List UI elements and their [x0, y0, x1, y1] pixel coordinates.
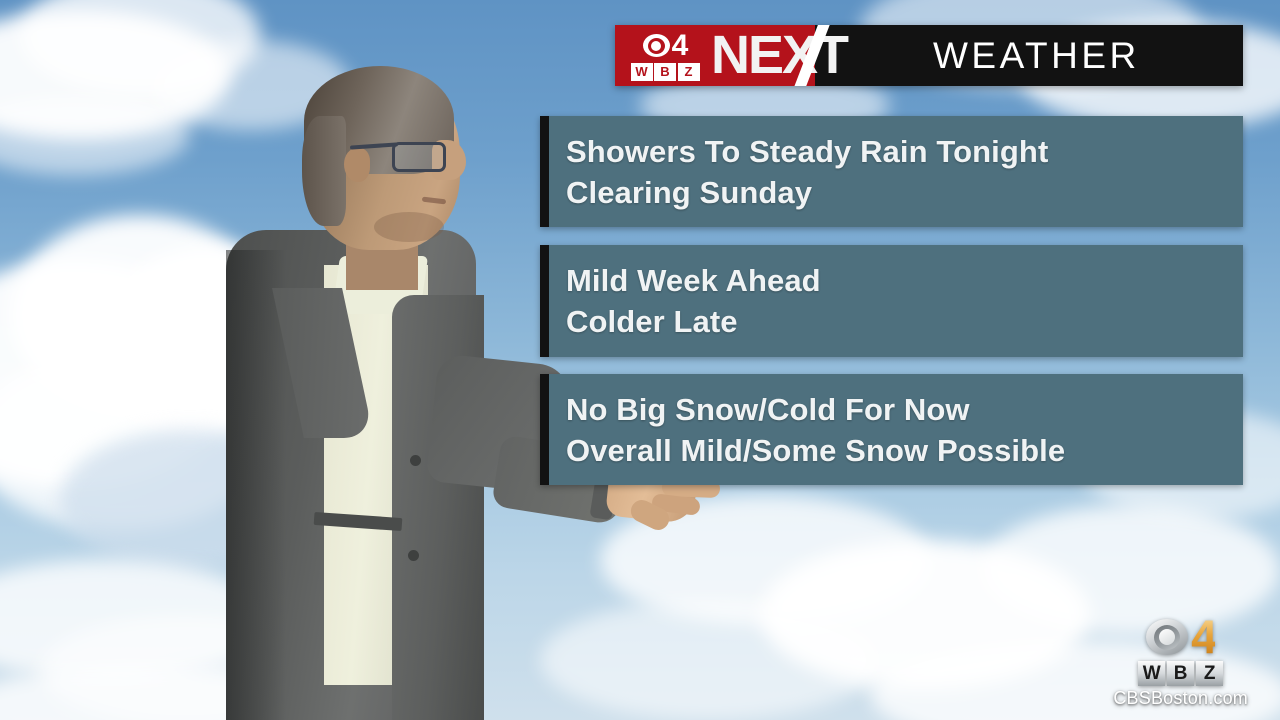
forecast-panel: No Big Snow/Cold For Now Overall Mild/So…: [540, 374, 1243, 485]
call-letter-z: Z: [1196, 661, 1223, 686]
call-letter-b: B: [1167, 661, 1194, 686]
website-url: CBSBoston.com: [1113, 689, 1248, 708]
forecast-line: Mild Week Ahead: [566, 260, 821, 301]
wbz-call-letters: W B Z: [631, 63, 700, 81]
station-bug: 4 W B Z CBSBoston.com: [1113, 616, 1248, 708]
jacket-shadow: [226, 250, 286, 720]
forecast-panel: Showers To Steady Rain Tonight Clearing …: [540, 116, 1243, 227]
wbz-call-letters: W B Z: [1138, 661, 1223, 686]
jacket-button: [408, 550, 419, 561]
forecast-panel-text: Mild Week Ahead Colder Late: [540, 260, 821, 342]
brand-weather-text: WEATHER: [933, 37, 1140, 74]
channel-number: 4: [672, 32, 688, 60]
call-letter-w: W: [631, 63, 653, 81]
cbs-eye-icon: [643, 34, 670, 57]
forecast-line: Overall Mild/Some Snow Possible: [566, 430, 1065, 471]
meteorologist: [196, 60, 556, 720]
cbs-eye-icon: [1146, 619, 1188, 655]
station-bug-top: 4: [1146, 616, 1215, 658]
forecast-line: Showers To Steady Rain Tonight: [566, 131, 1048, 172]
jacket-button: [410, 455, 421, 466]
call-letter-w: W: [1138, 661, 1165, 686]
next-weather-banner: 4 W B Z NEXT WEATHER: [615, 25, 1243, 86]
wbz-station-logo: 4 W B Z: [629, 31, 701, 81]
hair-side: [302, 116, 346, 226]
ear: [344, 148, 370, 182]
call-letter-b: B: [654, 63, 676, 81]
brand-next-text: NEXT: [711, 26, 847, 85]
forecast-line: No Big Snow/Cold For Now: [566, 389, 1065, 430]
call-letter-z: Z: [678, 63, 700, 81]
forecast-panel: Mild Week Ahead Colder Late: [540, 245, 1243, 357]
eyeglasses-lens: [392, 142, 446, 172]
forecast-line: Clearing Sunday: [566, 172, 1048, 213]
wbz-logo-top: 4: [643, 31, 688, 61]
cloud: [540, 600, 880, 720]
forecast-line: Colder Late: [566, 301, 821, 342]
sky-background: [0, 0, 1280, 720]
chin-shadow: [374, 212, 444, 242]
channel-number: 4: [1191, 616, 1215, 658]
forecast-panel-text: No Big Snow/Cold For Now Overall Mild/So…: [540, 389, 1065, 471]
forecast-panel-text: Showers To Steady Rain Tonight Clearing …: [540, 131, 1048, 213]
